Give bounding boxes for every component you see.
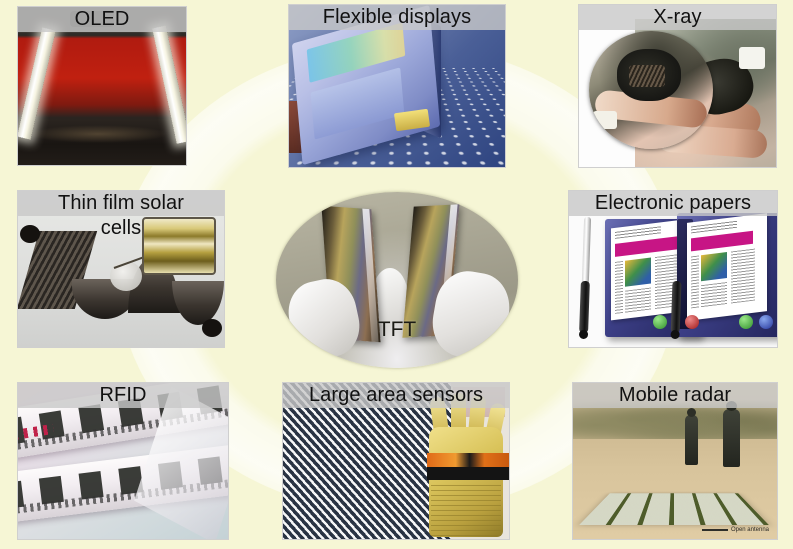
solar-layer-stack-inset [142,217,216,275]
sensor-glove [423,393,509,539]
panel-thin-film-solar-cells[interactable]: Thin film solar cells [17,190,225,348]
stylus-2-icon [670,309,680,339]
panel-mobile-radar[interactable]: Open antenna Mobile radar [572,382,778,540]
mobile-radar-photo: Open antenna [573,383,777,539]
thin-film-solar-cells-photo [18,191,224,347]
center-tft-ellipse[interactable]: TFT [276,192,518,368]
x-ray-circular-inset [589,31,713,149]
radar-antenna-mat [579,493,769,525]
oled-photo [18,7,186,165]
panel-oled[interactable]: OLED [17,6,187,166]
soldier-figure-1 [685,415,698,465]
panel-x-ray[interactable]: X-ray [578,4,777,168]
caption-leader-line [702,529,728,531]
panel-rfid[interactable]: RFID [17,382,229,540]
caption-text: Open antenna [731,527,769,533]
center-label-tft: TFT [276,318,518,342]
radar-caption: Open antenna [702,527,769,533]
figure-canvas: OLED Flexible displays [0,0,793,549]
rfid-photo [18,383,228,539]
panel-large-area-sensors[interactable]: Large area sensors [282,382,510,540]
soldier-figure-2 [723,409,740,467]
epaper-device-2 [677,213,777,337]
panel-electronic-papers[interactable]: Electronic papers [568,190,778,348]
x-ray-photo [579,5,776,167]
flexible-displays-photo [289,5,505,167]
large-area-sensors-photo [283,383,509,539]
panel-flexible-displays[interactable]: Flexible displays [288,4,506,168]
electronic-papers-photo [569,191,777,347]
